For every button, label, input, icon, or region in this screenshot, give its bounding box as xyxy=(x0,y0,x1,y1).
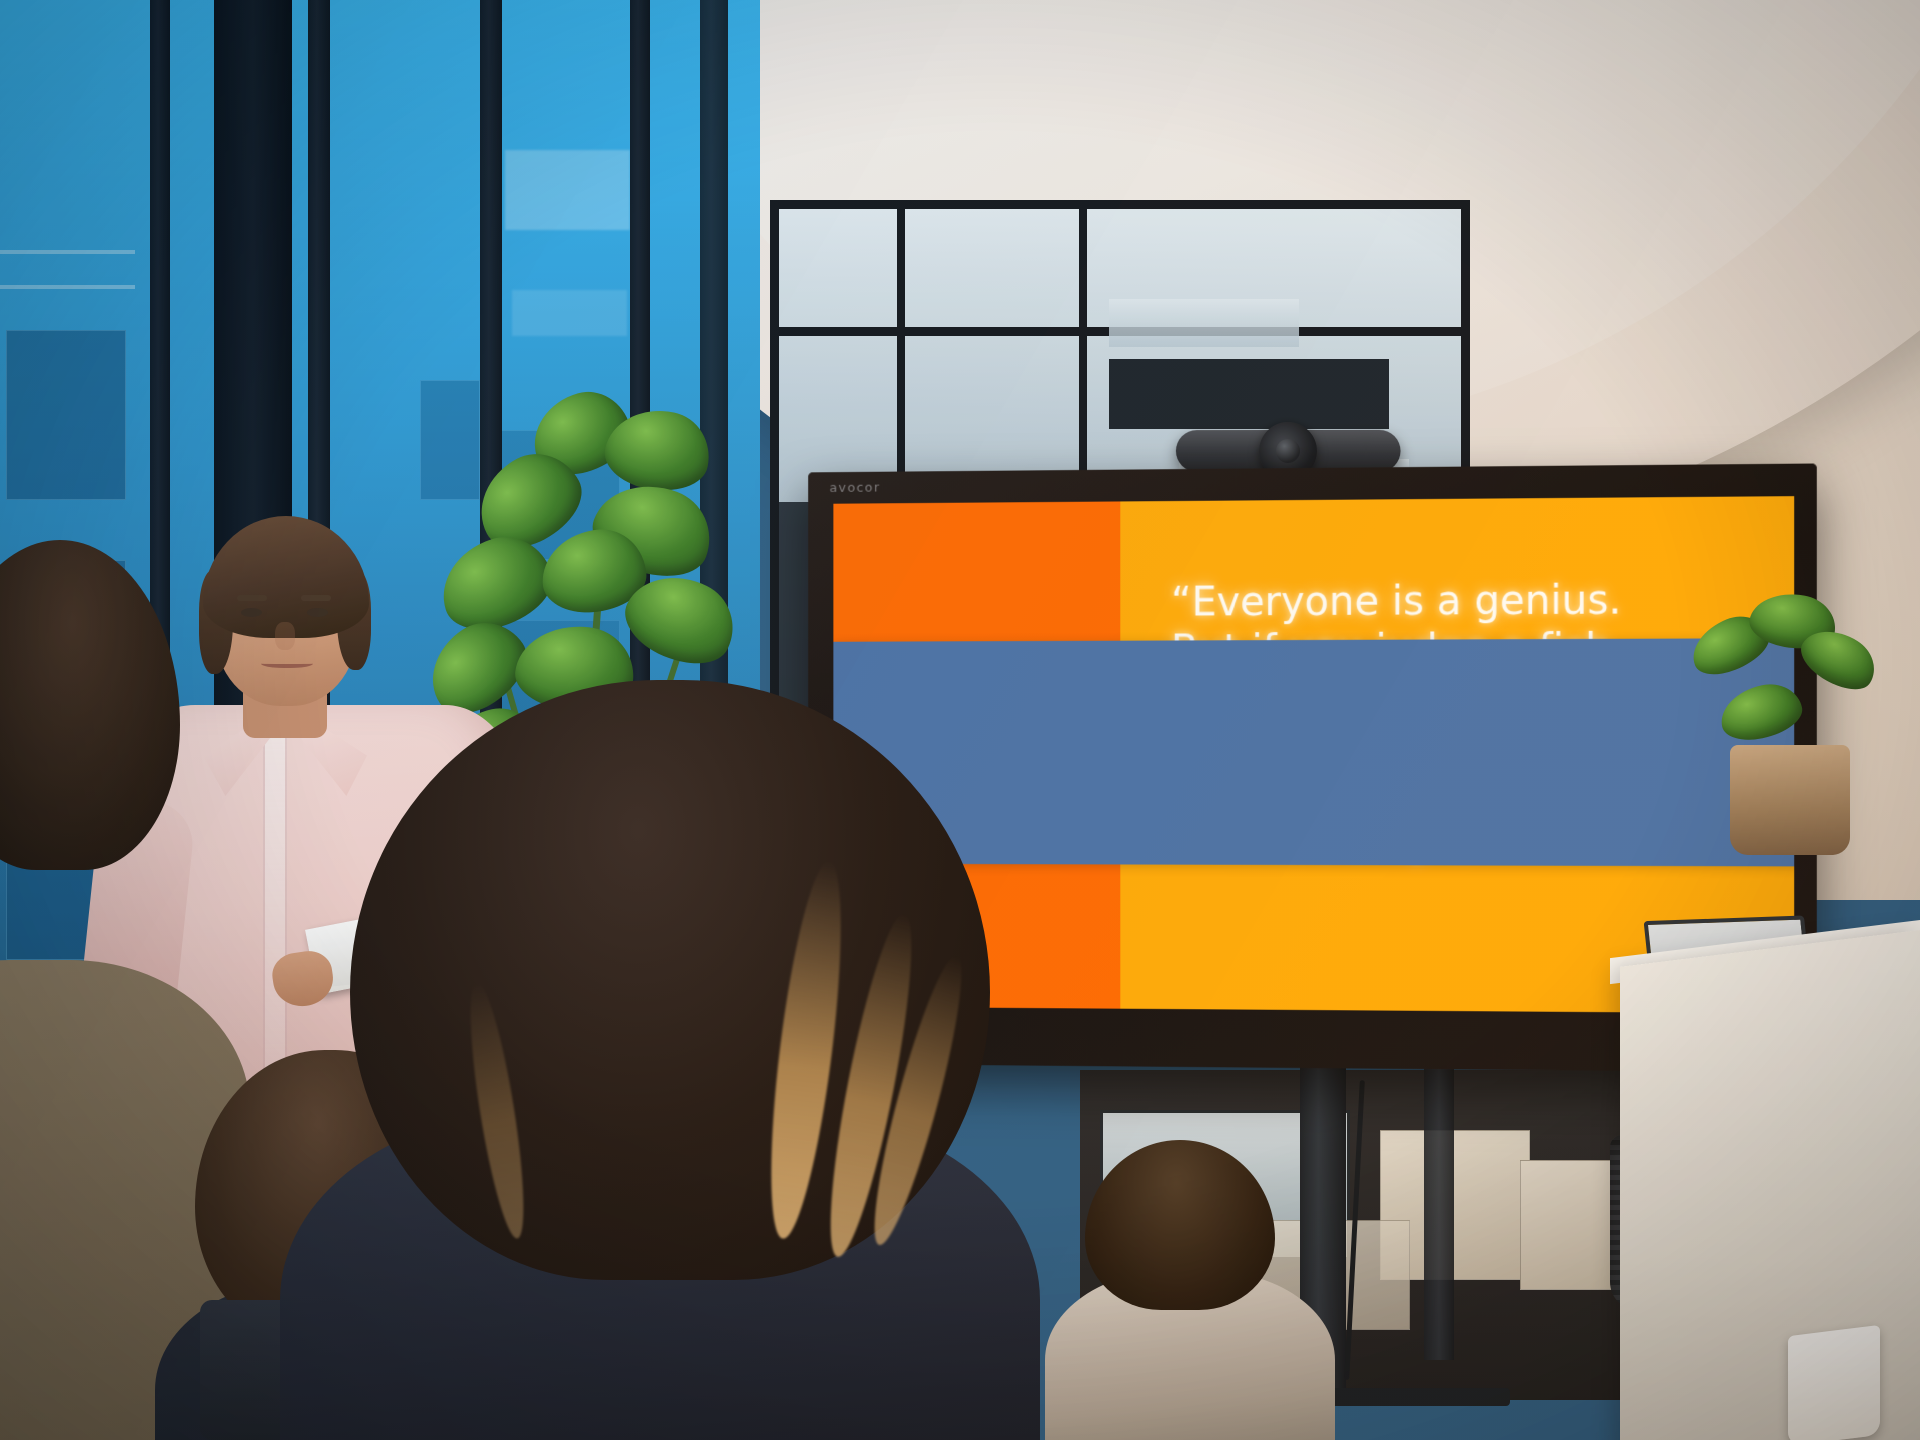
video-conference-camera-bar xyxy=(1176,430,1401,472)
audience-front-center xyxy=(280,680,1040,1440)
right-side-plant xyxy=(1690,590,1880,840)
display-stand-pole-secondary xyxy=(1424,1060,1454,1360)
presenter-brow-left xyxy=(237,595,267,601)
audience-right xyxy=(1085,1140,1315,1440)
presenter-mouth xyxy=(261,658,313,668)
presenter-eye-left xyxy=(241,608,262,617)
presenter-eye-right xyxy=(307,608,328,617)
camera-lens-icon xyxy=(1276,439,1300,463)
right-counter xyxy=(1620,930,1920,1440)
presenter-brow-right xyxy=(301,595,331,601)
display-brand-logo: avocor xyxy=(830,481,881,496)
audience-front-center-hair xyxy=(350,680,990,1280)
photo-scene: avocor “Everyone is a genius. But if you… xyxy=(0,0,1920,1440)
audience-right-hair xyxy=(1085,1140,1275,1310)
audience-far-left-hair xyxy=(0,540,180,870)
paper-cup xyxy=(1788,1325,1880,1440)
presenter-nose xyxy=(275,622,295,650)
